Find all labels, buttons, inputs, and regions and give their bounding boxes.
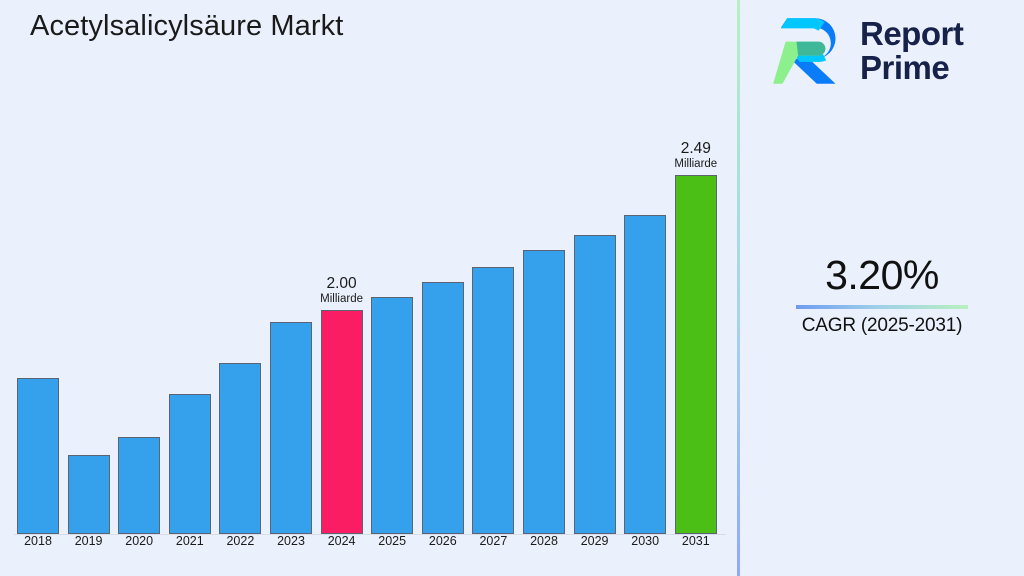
value-label-unit-2031: Milliarde [651, 158, 741, 171]
x-tick-2022: 2022 [219, 534, 261, 548]
bar-2025[interactable] [371, 297, 413, 534]
x-tick-2030: 2030 [624, 534, 666, 548]
bar-2022[interactable] [219, 363, 261, 534]
x-tick-2021: 2021 [169, 534, 211, 548]
bar-2029[interactable] [574, 235, 616, 534]
x-tick-2024: 2024 [321, 534, 363, 548]
value-label-number-2024: 2.00 [297, 275, 387, 293]
cagr-block: 3.20% CAGR (2025-2031) [740, 254, 1024, 337]
bar-2027[interactable] [472, 267, 514, 534]
bar-2018[interactable] [17, 378, 59, 534]
x-tick-2031: 2031 [675, 534, 717, 548]
x-tick-2028: 2028 [523, 534, 565, 548]
x-tick-2018: 2018 [17, 534, 59, 548]
brand-name: Report Prime [860, 17, 963, 86]
cagr-caption: CAGR (2025-2031) [740, 315, 1024, 337]
bar-2026[interactable] [422, 282, 464, 534]
bar-2019[interactable] [68, 455, 110, 534]
x-tick-2025: 2025 [371, 534, 413, 548]
chart-page: Acetylsalicylsäure Markt 201820192020202… [0, 0, 1024, 576]
bar-2028[interactable] [523, 250, 565, 534]
brand-panel: Report Prime 3.20% CAGR (2025-2031) [740, 0, 1024, 576]
brand-logo: Report Prime [770, 12, 963, 90]
bar-2023[interactable] [270, 322, 312, 534]
x-tick-2023: 2023 [270, 534, 312, 548]
brand-name-line2: Prime [860, 51, 963, 85]
bar-2024[interactable] [321, 310, 363, 534]
x-tick-2029: 2029 [574, 534, 616, 548]
brand-name-line1: Report [860, 17, 963, 51]
cagr-divider-rule [796, 305, 968, 309]
x-tick-2020: 2020 [118, 534, 160, 548]
x-tick-2027: 2027 [472, 534, 514, 548]
x-tick-2026: 2026 [422, 534, 464, 548]
report-prime-r-logo-icon [770, 12, 848, 90]
bar-2020[interactable] [118, 437, 160, 534]
x-tick-2019: 2019 [68, 534, 110, 548]
bar-chart-plot: 20182019202020212022202320242.00Milliard… [0, 0, 738, 576]
value-label-2031: 2.49Milliarde [651, 140, 741, 171]
cagr-value: 3.20% [740, 254, 1024, 297]
bar-2030[interactable] [624, 215, 666, 534]
bar-2021[interactable] [169, 394, 211, 534]
chart-panel: Acetylsalicylsäure Markt 201820192020202… [0, 0, 738, 576]
bar-2031[interactable] [675, 175, 717, 534]
value-label-number-2031: 2.49 [651, 140, 741, 158]
